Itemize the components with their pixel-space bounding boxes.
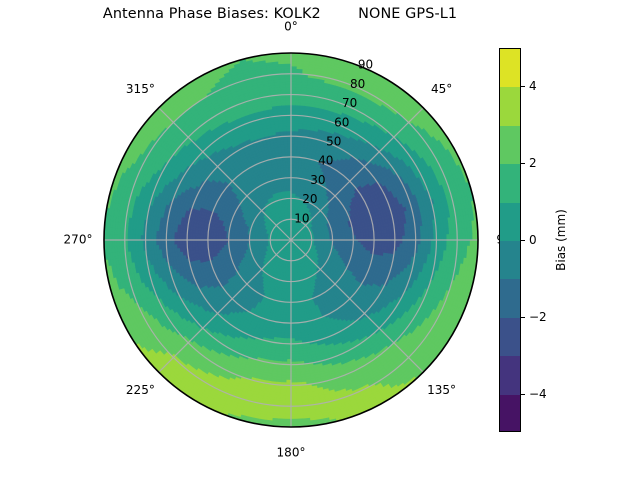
radial-tick-label: 90 — [358, 58, 373, 72]
colorbar-band — [500, 164, 520, 202]
polar-axes: 0°45°90135°180°225°270°315°1020304050607… — [0, 0, 560, 480]
colorbar-band — [500, 203, 520, 241]
colorbar: −4−2024 Bias (mm) — [499, 48, 619, 432]
colorbar-band — [500, 126, 520, 164]
colorbar-tick-mark — [521, 394, 525, 395]
angular-tick-label: 45° — [431, 82, 452, 96]
colorbar-tick-label: 4 — [529, 79, 537, 93]
angular-tick-label: 315° — [126, 82, 155, 96]
angular-tick-label: 135° — [427, 383, 456, 397]
colorbar-tick-label: −4 — [529, 387, 547, 401]
colorbar-band — [500, 279, 520, 317]
colorbar-tick-label: 0 — [529, 233, 537, 247]
colorbar-band — [500, 49, 520, 87]
angular-tick-label: 225° — [126, 383, 155, 397]
figure-canvas: Antenna Phase Biases: KOLK2 NONE GPS-L1 … — [0, 0, 640, 480]
radial-tick-label: 80 — [350, 77, 365, 91]
radial-tick-label: 10 — [294, 211, 309, 225]
radial-tick-label: 70 — [342, 96, 357, 110]
angular-tick-label: 270° — [64, 233, 93, 247]
colorbar-band — [500, 356, 520, 394]
colorbar-band — [500, 87, 520, 125]
colorbar-tick-mark — [521, 317, 525, 318]
angular-tick-label: 0° — [284, 20, 298, 34]
radial-tick-label: 20 — [302, 192, 317, 206]
angular-tick-label: 180° — [277, 446, 306, 460]
colorbar-tick-mark — [521, 240, 525, 241]
radial-tick-label: 60 — [334, 115, 349, 129]
colorbar-tick-mark — [521, 86, 525, 87]
colorbar-band — [500, 395, 520, 432]
polar-grid — [104, 53, 478, 427]
polar-plot-area: 0°45°90135°180°225°270°315°1020304050607… — [0, 0, 560, 480]
colorbar-tick-label: 2 — [529, 156, 537, 170]
radial-tick-label: 50 — [326, 135, 341, 149]
colorbar-label: Bias (mm) — [554, 209, 568, 271]
radial-tick-label: 30 — [310, 173, 325, 187]
colorbar-band — [500, 241, 520, 279]
colorbar-gradient — [499, 48, 521, 432]
colorbar-band — [500, 318, 520, 356]
colorbar-tick-label: −2 — [529, 310, 547, 324]
radial-tick-label: 40 — [318, 154, 333, 168]
colorbar-tick-mark — [521, 163, 525, 164]
